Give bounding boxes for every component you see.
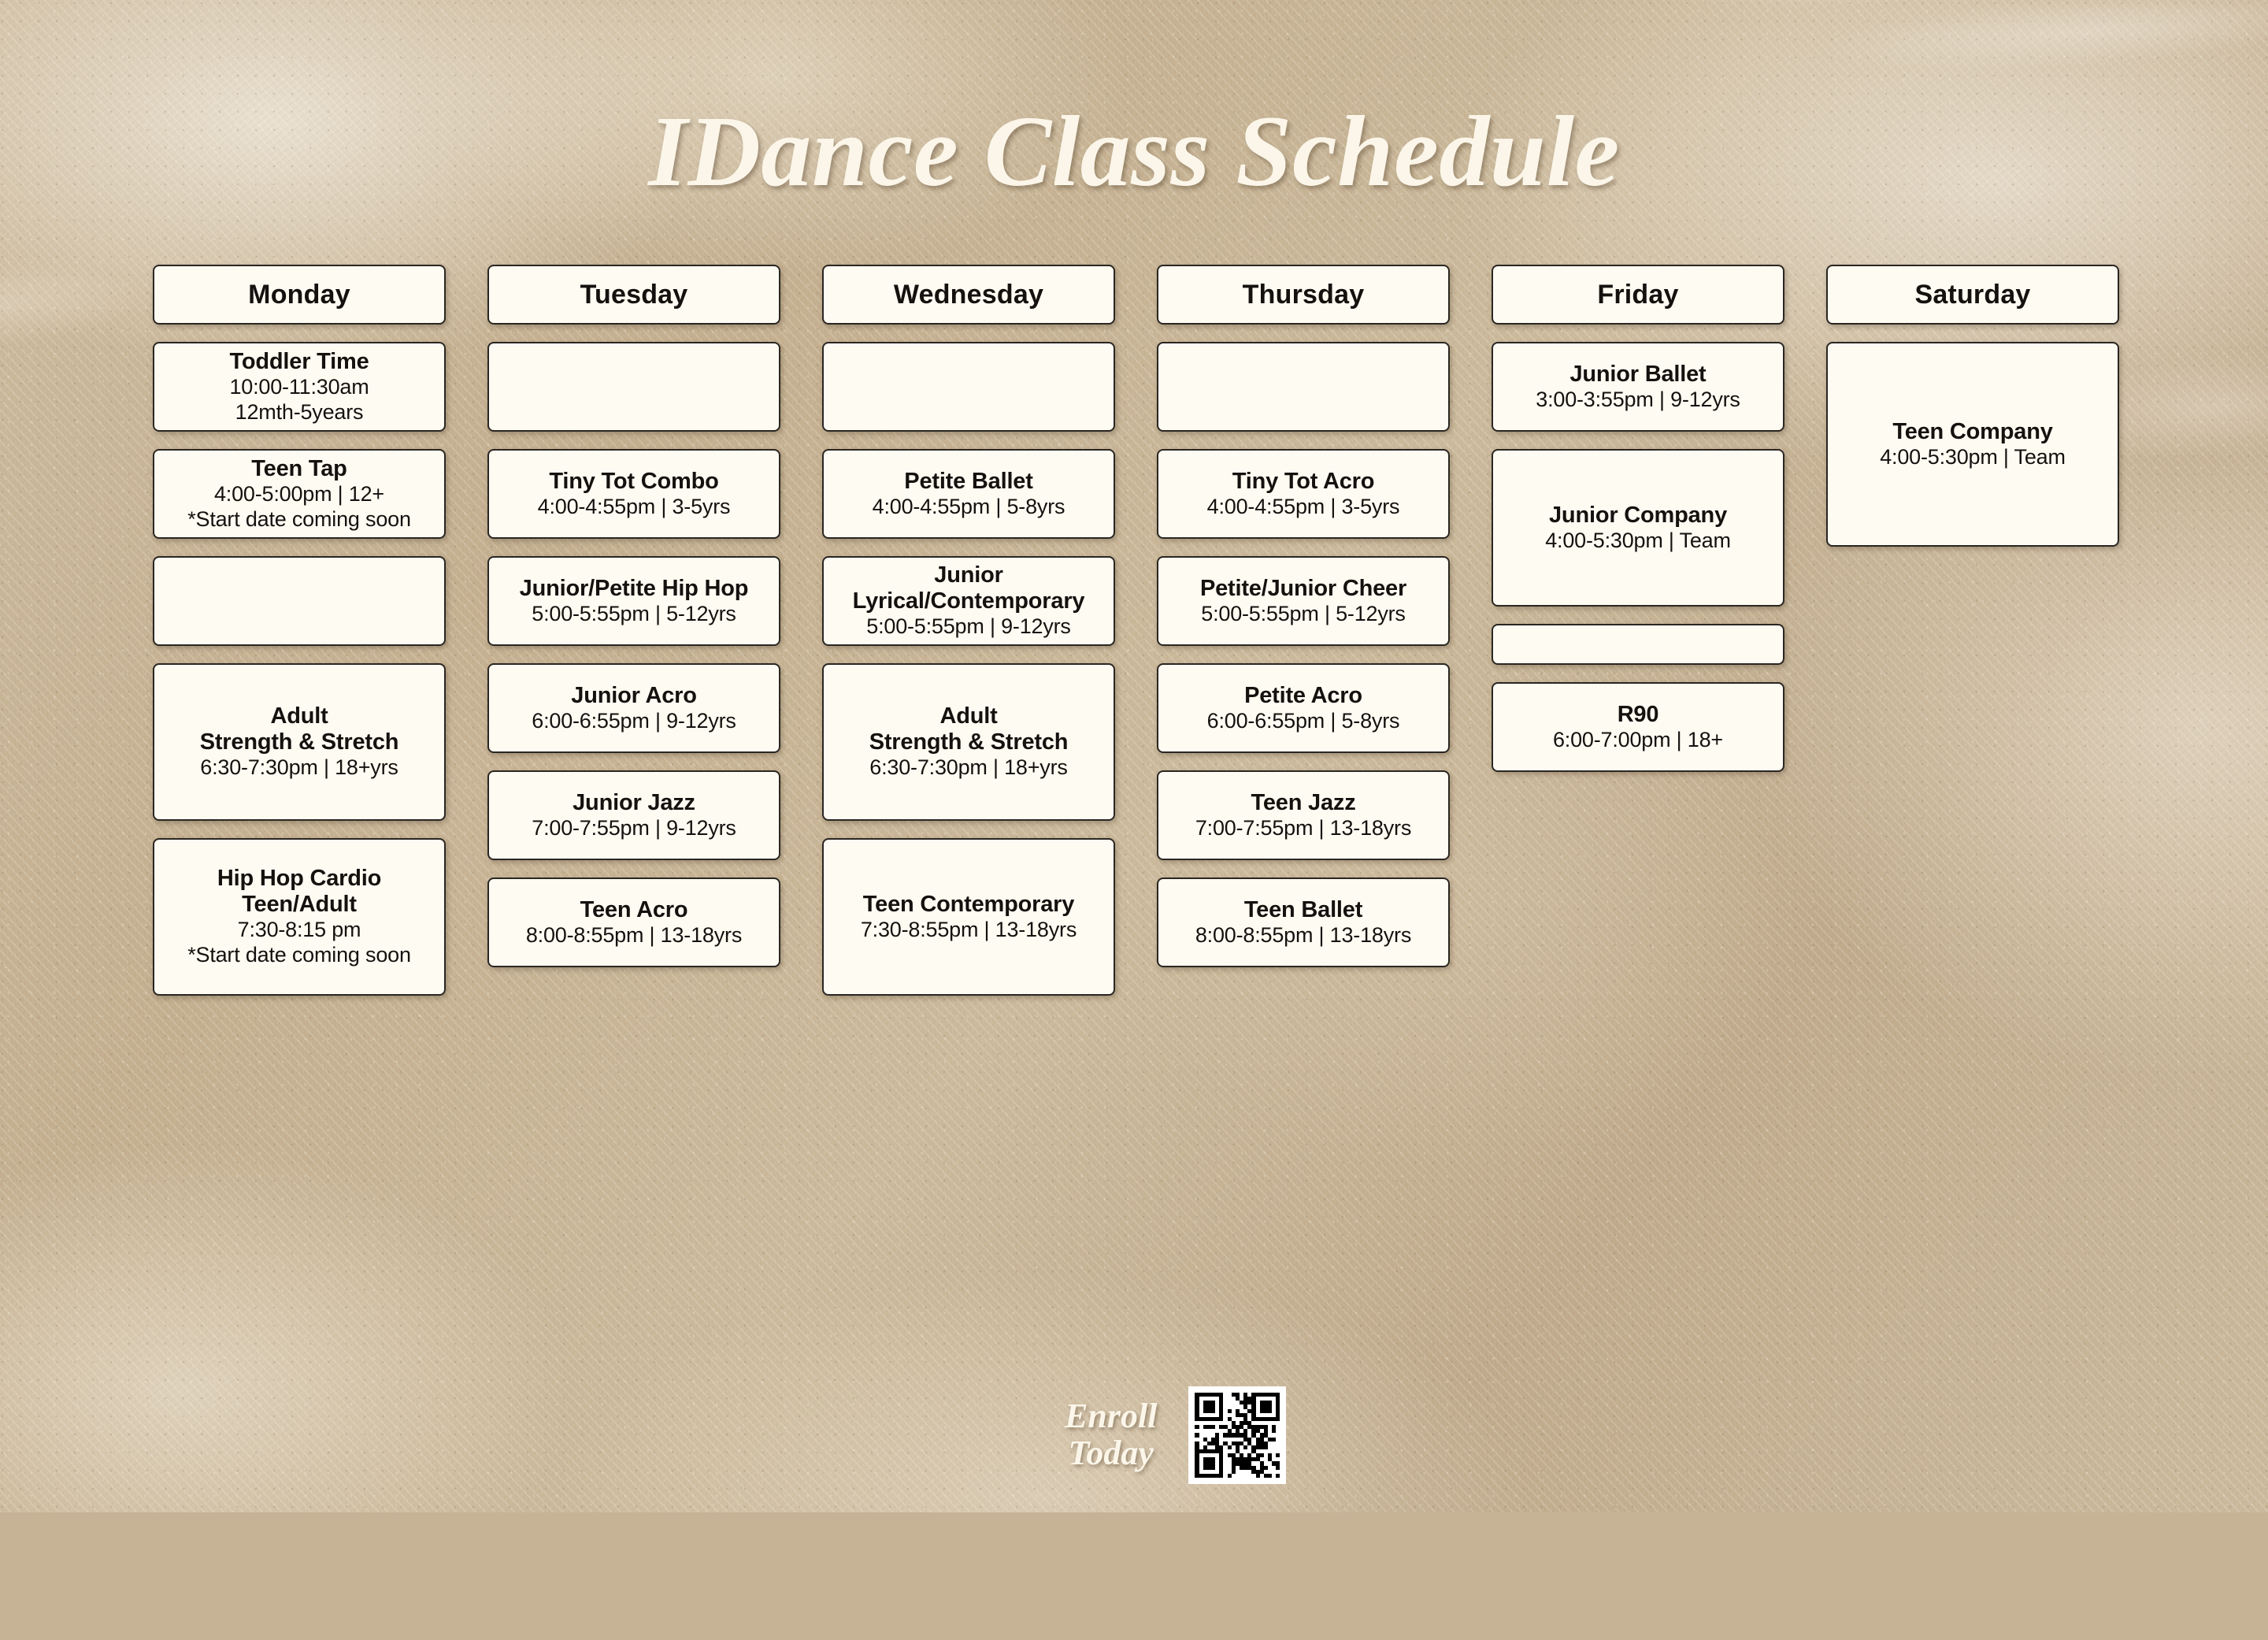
class-detail: 6:00-7:00pm | 18+ bbox=[1553, 728, 1723, 753]
day-header-friday: Friday bbox=[1492, 265, 1784, 325]
class-slot-empty bbox=[487, 342, 780, 432]
page-title: IDance Class Schedule bbox=[0, 101, 2268, 202]
day-column-saturday: SaturdayTeen Company4:00-5:30pm | Team bbox=[1826, 265, 2119, 564]
class-title: Hip Hop Cardio bbox=[217, 866, 381, 892]
day-column-friday: FridayJunior Ballet3:00-3:55pm | 9-12yrs… bbox=[1492, 265, 1784, 789]
day-column-thursday: ThursdayTiny Tot Acro4:00-4:55pm | 3-5yr… bbox=[1157, 265, 1450, 985]
class-slot-empty bbox=[1492, 624, 1784, 665]
class-detail: 7:30-8:55pm | 13-18yrs bbox=[861, 918, 1077, 943]
class-detail: 4:00-5:30pm | Team bbox=[1545, 529, 1731, 554]
day-header-label: Tuesday bbox=[580, 280, 688, 310]
class-detail: 4:00-4:55pm | 3-5yrs bbox=[538, 495, 731, 520]
class-card[interactable]: Petite Ballet4:00-4:55pm | 5-8yrs bbox=[822, 449, 1115, 539]
class-card[interactable]: JuniorLyrical/Contemporary5:00-5:55pm | … bbox=[822, 556, 1115, 646]
class-slot-empty bbox=[153, 556, 446, 646]
class-title: Junior bbox=[934, 562, 1002, 588]
class-detail: 4:00-5:30pm | Team bbox=[1880, 445, 2066, 470]
day-header-wednesday: Wednesday bbox=[822, 265, 1115, 325]
class-title-line-2: Strength & Stretch bbox=[200, 729, 399, 755]
day-column-tuesday: TuesdayTiny Tot Combo4:00-4:55pm | 3-5yr… bbox=[487, 265, 780, 985]
footer: Enroll Today bbox=[1065, 1386, 1286, 1484]
day-column-monday: MondayToddler Time10:00-11:30am12mth-5ye… bbox=[153, 265, 446, 1013]
class-detail: 5:00-5:55pm | 5-12yrs bbox=[532, 602, 736, 627]
day-header-label: Monday bbox=[248, 280, 350, 310]
class-detail: *Start date coming soon bbox=[187, 507, 411, 532]
class-card[interactable]: Junior Jazz7:00-7:55pm | 9-12yrs bbox=[487, 770, 780, 860]
class-detail: 7:00-7:55pm | 9-12yrs bbox=[532, 816, 736, 841]
class-card[interactable]: R906:00-7:00pm | 18+ bbox=[1492, 682, 1784, 772]
class-card[interactable]: Teen Jazz7:00-7:55pm | 13-18yrs bbox=[1157, 770, 1450, 860]
day-header-monday: Monday bbox=[153, 265, 446, 325]
class-card[interactable]: AdultStrength & Stretch6:30-7:30pm | 18+… bbox=[153, 663, 446, 821]
class-title: Teen Tap bbox=[251, 456, 346, 482]
class-detail: 7:00-7:55pm | 13-18yrs bbox=[1195, 816, 1411, 841]
class-slot-empty bbox=[1157, 342, 1450, 432]
class-card[interactable]: Toddler Time10:00-11:30am12mth-5years bbox=[153, 342, 446, 432]
day-header-tuesday: Tuesday bbox=[487, 265, 780, 325]
day-column-wednesday: WednesdayPetite Ballet4:00-4:55pm | 5-8y… bbox=[822, 265, 1115, 1013]
qr-code[interactable] bbox=[1188, 1386, 1286, 1484]
enroll-today-label: Enroll Today bbox=[1065, 1398, 1157, 1471]
class-title: Junior/Petite Hip Hop bbox=[520, 576, 749, 602]
class-title: Teen Contemporary bbox=[863, 892, 1074, 918]
class-card[interactable]: Petite Acro6:00-6:55pm | 5-8yrs bbox=[1157, 663, 1450, 753]
class-detail: 5:00-5:55pm | 5-12yrs bbox=[1201, 602, 1405, 627]
class-title: Junior Jazz bbox=[573, 790, 695, 816]
class-detail: 6:30-7:30pm | 18+yrs bbox=[869, 755, 1067, 781]
class-detail: 5:00-5:55pm | 9-12yrs bbox=[866, 614, 1070, 640]
class-detail: 6:30-7:30pm | 18+yrs bbox=[200, 755, 398, 781]
class-card[interactable]: Hip Hop CardioTeen/Adult7:30-8:15 pm*Sta… bbox=[153, 838, 446, 996]
class-card[interactable]: Tiny Tot Acro4:00-4:55pm | 3-5yrs bbox=[1157, 449, 1450, 539]
class-title: Petite Acro bbox=[1244, 683, 1362, 709]
class-title: Tiny Tot Combo bbox=[549, 469, 718, 495]
class-card[interactable]: Teen Ballet8:00-8:55pm | 13-18yrs bbox=[1157, 878, 1450, 967]
class-card[interactable]: Teen Acro8:00-8:55pm | 13-18yrs bbox=[487, 878, 780, 967]
class-title: R90 bbox=[1618, 702, 1659, 728]
class-card[interactable]: AdultStrength & Stretch6:30-7:30pm | 18+… bbox=[822, 663, 1115, 821]
class-title: Teen Ballet bbox=[1244, 897, 1362, 923]
day-header-label: Saturday bbox=[1914, 280, 2030, 310]
class-title: Teen Jazz bbox=[1251, 790, 1355, 816]
class-card[interactable]: Teen Tap4:00-5:00pm | 12+*Start date com… bbox=[153, 449, 446, 539]
class-detail: 6:00-6:55pm | 5-8yrs bbox=[1207, 709, 1400, 734]
class-card[interactable]: Junior Company4:00-5:30pm | Team bbox=[1492, 449, 1784, 607]
class-card[interactable]: Junior/Petite Hip Hop5:00-5:55pm | 5-12y… bbox=[487, 556, 780, 646]
class-detail: 4:00-4:55pm | 3-5yrs bbox=[1207, 495, 1400, 520]
class-detail: 4:00-4:55pm | 5-8yrs bbox=[873, 495, 1065, 520]
day-header-saturday: Saturday bbox=[1826, 265, 2119, 325]
class-detail: 6:00-6:55pm | 9-12yrs bbox=[532, 709, 736, 734]
class-detail: 12mth-5years bbox=[235, 400, 364, 425]
day-header-thursday: Thursday bbox=[1157, 265, 1450, 325]
class-card[interactable]: Petite/Junior Cheer5:00-5:55pm | 5-12yrs bbox=[1157, 556, 1450, 646]
class-detail: 4:00-5:00pm | 12+ bbox=[214, 482, 384, 507]
class-detail: 8:00-8:55pm | 13-18yrs bbox=[526, 923, 742, 948]
class-slot-empty bbox=[822, 342, 1115, 432]
class-detail: 10:00-11:30am bbox=[229, 375, 369, 400]
class-title-line-2: Lyrical/Contemporary bbox=[853, 588, 1085, 614]
class-card[interactable]: Junior Acro6:00-6:55pm | 9-12yrs bbox=[487, 663, 780, 753]
class-title-line-2: Strength & Stretch bbox=[869, 729, 1069, 755]
class-title: Toddler Time bbox=[230, 349, 369, 375]
class-title: Teen Acro bbox=[580, 897, 688, 923]
class-title: Adult bbox=[939, 703, 997, 729]
class-card[interactable]: Teen Contemporary7:30-8:55pm | 13-18yrs bbox=[822, 838, 1115, 996]
class-detail: 8:00-8:55pm | 13-18yrs bbox=[1195, 923, 1411, 948]
class-card[interactable]: Tiny Tot Combo4:00-4:55pm | 3-5yrs bbox=[487, 449, 780, 539]
class-title-line-2: Teen/Adult bbox=[242, 892, 357, 918]
class-title: Petite Ballet bbox=[904, 469, 1032, 495]
class-title: Junior Ballet bbox=[1569, 362, 1706, 388]
class-card[interactable]: Teen Company4:00-5:30pm | Team bbox=[1826, 342, 2119, 547]
class-title: Adult bbox=[270, 703, 328, 729]
class-detail: 7:30-8:15 pm bbox=[238, 918, 361, 943]
class-card[interactable]: Junior Ballet3:00-3:55pm | 9-12yrs bbox=[1492, 342, 1784, 432]
class-title: Petite/Junior Cheer bbox=[1200, 576, 1406, 602]
class-title: Junior Acro bbox=[571, 683, 696, 709]
class-title: Tiny Tot Acro bbox=[1232, 469, 1375, 495]
class-title: Junior Company bbox=[1549, 503, 1727, 529]
enroll-line-1: Enroll bbox=[1065, 1398, 1157, 1435]
day-header-label: Thursday bbox=[1243, 280, 1365, 310]
class-detail: 3:00-3:55pm | 9-12yrs bbox=[1536, 388, 1740, 413]
day-header-label: Wednesday bbox=[894, 280, 1043, 310]
class-detail: *Start date coming soon bbox=[187, 943, 411, 968]
day-header-label: Friday bbox=[1597, 280, 1678, 310]
enroll-line-2: Today bbox=[1065, 1435, 1157, 1472]
class-title: Teen Company bbox=[1892, 419, 2052, 445]
